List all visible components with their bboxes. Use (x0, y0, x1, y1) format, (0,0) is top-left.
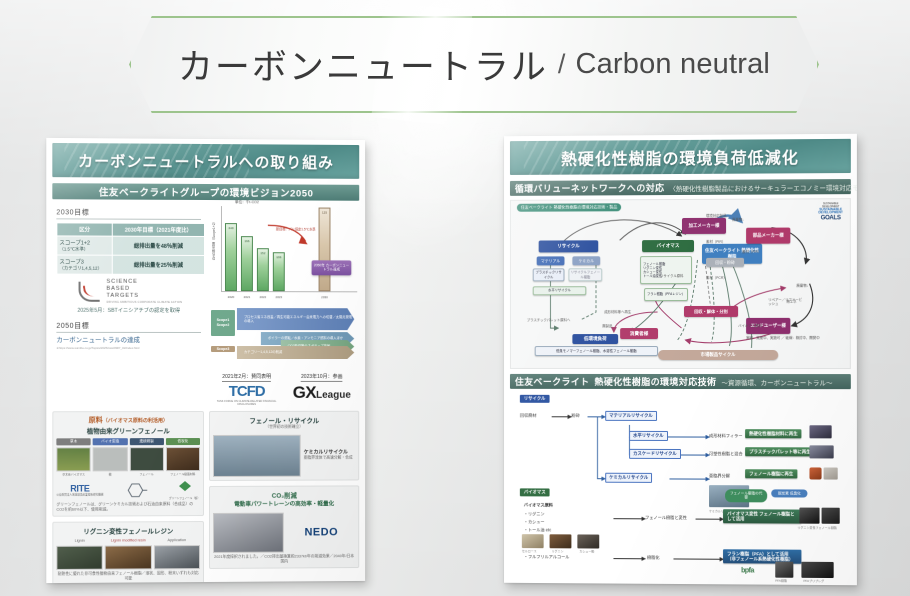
result-phenol-regen: フェノール樹脂に再生 (745, 469, 797, 478)
text-furfuryl-alcohol: ・フルフリルアルコール (524, 554, 570, 560)
node-collect-sort: 回収・解体・分別 (684, 306, 738, 317)
technology-flow: リサイクル 回収廃材 粉砕 マテリアルリサイクル 水平リサイクル カスケードリサ… (510, 393, 851, 584)
text-thermoplastic-mix: 可塑性樹脂と混合 (709, 451, 743, 457)
edge-label-pir-2: 素材（PIR） (742, 250, 761, 254)
reference-url: ※https://www.sumibe.co.jp/Topics/2025/nw… (56, 346, 201, 350)
box-horizontal-recycle: 水平リサイクル (629, 431, 667, 441)
card-phenol-title: フェノール・リサイクル (213, 416, 355, 425)
green-phenol-caption: グリーンフェノール（仮） (169, 497, 200, 500)
nedo-logo-block: NEDO (287, 522, 355, 540)
photo-lignin (550, 534, 572, 548)
stage-lowcarbon-label: 低炭化 (166, 438, 200, 445)
powertrain-photo (213, 513, 283, 553)
table-header-row: 区分 2030年目標（2021年度比） (57, 223, 205, 237)
node-low-load: 低環境負荷 (572, 334, 618, 344)
poster-left: カーボンニュートラルへの取り組み 住友ベークライトグループの環境ビジョン2050… (46, 138, 365, 583)
td-scope3-goal: 総排出量を25％削減 (112, 255, 204, 274)
bar-value: 196 (244, 239, 249, 243)
tag-recycle: リサイクル (520, 395, 549, 403)
text-source-lignin: ・リグニン (524, 511, 545, 517)
text-collected-waste: 回収廃材 (520, 413, 537, 419)
tcfd-logo-cell: 2021年2月：賛同表明 TCFD TASK FORCE ON CLIMATE-… (212, 365, 281, 406)
text-biomass-sources-title: バイオマス原料 (524, 502, 553, 508)
td-scope12: スコープ1+2 （1.5℃水準） (57, 236, 112, 255)
box-material-recycle: マテリアルリサイクル (605, 411, 656, 421)
bar-category: 2022 (260, 295, 267, 299)
banner-title-en: Carbon neutral (575, 48, 770, 81)
banner-title-jp: カーボンニュートラル (178, 39, 548, 90)
section-value-network: 循環バリューネットワークへの対応 〈熱硬化性樹脂製品におけるサーキュラーエコノミ… (510, 179, 851, 196)
roadmap-scope12-tag: Scope1 Scope2 (211, 310, 235, 336)
tcfd-sublabel: TASK FORCE ON CLIMATE-RELATED FINANCIAL … (212, 400, 281, 406)
edge-label-biomass-source: バイオマス原料 (738, 324, 762, 328)
node-processor: 加工メーカー様 (682, 218, 726, 234)
card-co2-subtitle: 電動車パワートレーンの高効率・軽量化 (213, 499, 355, 508)
bar-2023: 136 2023 (273, 253, 285, 291)
title-banner: カーボンニュートラル / Carbon neutral (129, 16, 819, 113)
chart-bars: 240 2020 196 2021 152 2022 (225, 206, 330, 291)
edge-label-used-product: 廃製品 (602, 324, 612, 328)
card-lignin-resin: リグニン変性フェノールレジン Lignin Lignin modified re… (52, 521, 204, 583)
tcfd-logo: TCFD (212, 383, 281, 400)
card-raw-material-title-main: 原料 (89, 417, 103, 424)
td-scope12-goal: 総排出量を48％削減 (112, 236, 204, 255)
stage-bio-caption: 糖 (93, 472, 127, 476)
subitem-furan-resin: フラン樹脂（PFAレジン） (644, 288, 688, 301)
bar-2030: 125 2030 (319, 208, 331, 291)
section-value-network-subtitle: 〈熱硬化性樹脂製品におけるサーキュラーエコノミー環境対応モデル〉 (669, 181, 856, 192)
poster-right: 熱硬化性樹脂の環境負荷低減化 循環バリューネットワークへの対応 〈熱硬化性樹脂製… (504, 134, 857, 585)
rite-sublabel: 公益財団法人地球環境産業技術研究機構 (56, 493, 103, 497)
phenol-structure-icon (123, 481, 150, 499)
chemical-recycle-label-block: ケミカルリサイクル 亜臨界流体で高速分解・合成 (304, 449, 356, 461)
stage-lowcarbon-caption: フェノール樹脂材料 (166, 472, 200, 476)
card-phenol-recycle: フェノール・リサイクル （世界初の技術確立） ケミカルリサイクル 亜臨界流体で高… (209, 411, 359, 481)
stage-distill-photo (129, 447, 163, 471)
roadmap-arrow-1: プロセス省エネ改善／再生可能エネルギー由来電力への切替／太陽光発電の導入 (237, 308, 354, 330)
scope3-sub: （カテゴリ1,4,5,12） (59, 266, 109, 272)
text-molding-filler: 成形材料フィラー (709, 433, 743, 439)
edge-label-pir-1: 素材（PIR） (706, 240, 725, 244)
card-lignin-title: リグニン変性フェノールレジン (56, 526, 200, 536)
sbt-certification-note: 2025年5月：SBTイニシアチブの認定を取得 (56, 307, 201, 314)
result-thermoset-regen: 熱硬化性樹脂材料に再生 (745, 429, 802, 438)
green-phenol-stages: 草木 草木系バイオマス バイオ変換 糖 連続精製 (56, 438, 200, 477)
subitem-plastic-recycle: プラスチックリサイクル (533, 268, 565, 281)
card-lignin-note: 耐熱性に優れた非可食性植物由来フェノール樹脂／液状、固形、粉末いずれも対応可能 (56, 571, 200, 582)
subitem-recycled-phenol: リサイクルフェノール樹脂 (568, 268, 602, 281)
stage-distill-label: 連続精製 (129, 438, 163, 445)
node-recycle: リサイクル (539, 240, 599, 252)
bar-category: 2021 (244, 295, 251, 299)
photo-cellulose (522, 534, 544, 548)
scope3-tag-label: Scope3 (217, 347, 230, 351)
lignin-source-photo (56, 546, 103, 570)
stage-distillation: 連続精製 フェノール (129, 438, 163, 476)
card-raw-material-note: グリーンフェノールは、グリーンケミカル技術および石油由来原料（合成品）のCO2を… (56, 502, 200, 513)
card-phenol-title-sub: （世界初の技術確立） (213, 425, 355, 430)
lignin-col-resin-label: Lignin modified resin (105, 539, 152, 544)
edge-label-repair: リペアー／リファービッシュ (768, 298, 802, 307)
node-collect-crush: 回収・粉砕 (706, 258, 744, 267)
gx-league-logo: GXLeague (287, 383, 356, 403)
tag-biomass: バイオマス (520, 488, 550, 496)
green-leaf-mark: グリーンフェノール（仮） (169, 479, 200, 500)
card-raw-material-subtitle: 植物由来グリーンフェノール (56, 426, 200, 435)
th-category: 区分 (57, 223, 112, 236)
stage-distill-caption: フェノール (129, 472, 163, 476)
cap-lignin-resin: リグニン変性フェノール樹脂 (797, 526, 836, 530)
section2-subtitle: 〜資源循環、カーボンニュートラル〜 (721, 377, 832, 387)
lignin-app-photo (154, 545, 200, 569)
swatch-pallet (809, 445, 833, 458)
lignin-col-source: Lignin (56, 539, 103, 570)
sbt-tagline: DRIVING AMBITIOUS CORPORATE CLIMATE ACTI… (106, 301, 182, 304)
block-2050: 2050目標 カーボンニュートラルの達成 ※https://www.sumibe… (52, 321, 205, 350)
text-resinification: 樹脂化 (647, 555, 660, 561)
tcfd-caption: 2021年2月：賛同表明 (222, 373, 271, 382)
photo-lignin-resin-2 (822, 508, 840, 524)
chart-red-arrow-icon (266, 223, 312, 247)
left-bottom-cards: 原料（バイオマス原料の利活用） 植物由来グリーンフェノール 草木 草木系バイオマ… (52, 411, 359, 583)
bar-2022: 152 2022 (257, 248, 269, 291)
stage-low-carbon: 低炭化 フェノール樹脂材料 (166, 438, 200, 476)
stage-kusaki-label: 草木 (56, 438, 91, 445)
lignin-col-resin: Lignin modified resin (105, 539, 152, 570)
chart-plot-area: 240 2020 196 2021 152 2022 (221, 206, 357, 292)
rite-logo: RITE (56, 483, 103, 493)
table-row: スコープ3 （カテゴリ1,4,5,12） 総排出量を25％削減 (57, 255, 205, 274)
box-chemical-recycle: ケミカルリサイクル (605, 473, 652, 483)
chemical-recycle-sublabel: 亜臨界流体で高速分解・合成 (304, 456, 356, 461)
chart-unit-label: 単位：千t-CO2 (235, 200, 259, 205)
text-subcritical: 亜臨界分解 (709, 473, 730, 479)
node-parts-maker: 部品メーカー様 (746, 228, 790, 244)
edge-label-waste-2: 廃棄物↓ (796, 284, 808, 288)
table-row: スコープ1+2 （1.5℃水準） 総排出量を48％削減 (57, 236, 205, 256)
scope12-tag-label: Scope1 Scope2 (211, 318, 235, 329)
cap-cellulose: セルロース (522, 549, 537, 553)
label-2050-target: 2050目標 (56, 321, 201, 333)
left-column-targets: 2030目標 区分 2030年目標（2021年度比） スコープ1+2 （1.5℃… (52, 199, 205, 406)
th-goal: 2030年目標（2021年度比） (112, 223, 204, 236)
bar-2021: 196 2021 (241, 236, 253, 291)
bpfa-logo: bpfa (741, 567, 754, 574)
roadmap-arrow-2-label: ボイラーの燃転／水素・アンモニア燃料の導入ほか (268, 336, 343, 340)
node-market-cycle: 市場製品サイクル (658, 350, 778, 360)
cap-pfa-resin: PFA樹脂 (775, 579, 787, 583)
lignin-col-application: Application (154, 538, 200, 569)
bar-value: 240 (228, 226, 233, 230)
section-value-network-title: 循環バリューネットワークへの対応 (515, 181, 665, 195)
ghg-bar-chart: 単位：千t-CO2 GHG排出量（Scope1+2） 240 2020 196 (209, 200, 359, 304)
bar-category: 2020 (228, 295, 235, 299)
edge-label-eco-product: 環境対応製品 (706, 214, 726, 219)
roadmap-arrow-4-label: カテゴリー1,4,5,12の削減 (244, 350, 282, 354)
edge-label-recycle-material: リサイクル原料 (660, 274, 684, 278)
text-source-talloil: ・トール油 etc (524, 527, 551, 533)
section-vision2050-label: 住友ベークライトグループの環境ビジョン2050 (99, 184, 314, 199)
gx-league-logo-cell: 2023年10月：参画 GXLeague (287, 365, 356, 406)
sbt-line3: TARGETS (106, 293, 182, 300)
lignin-col-app-label: Application (154, 538, 200, 543)
edge-label-pcr: 素材（PCR） (706, 276, 727, 280)
bar-2020: 240 2020 (225, 223, 237, 291)
stage-bio-label: バイオ変換 (93, 438, 127, 445)
subitem-horizontal-recycle: 水平リサイクル (533, 286, 587, 295)
circular-economy-diagram: 住友ベークライト 熱硬化性樹脂の環境対応技術・製品 SUSTAINABLE DE… (510, 198, 851, 369)
node-chemical: ケミカル (572, 256, 600, 265)
roadmap-arrows: Scope1 Scope2 Scope3 プロセス省エネ改善／再生可能エネルギー… (209, 306, 359, 362)
section2-title: 熱硬化性樹脂の環境対応技術 (594, 375, 716, 388)
photo-lignin-resin-1 (799, 508, 819, 524)
swatch-phenol-powder (824, 467, 838, 479)
card-raw-material-title: 原料（バイオマス原料の利活用） (56, 415, 200, 425)
photo-scene: カーボンニュートラル / Carbon neutral カーボンニュートラルへの… (0, 0, 910, 596)
subitem-resin-variants: フェノール樹脂 リグニン変性 カシュー変性 トール油変性 (640, 256, 692, 284)
roadmap-arrow-4: カテゴリー1,4,5,12の削減 (237, 346, 354, 359)
bubble-decarbon: 脱炭素 低臭化 (771, 489, 807, 498)
stage-lowcarbon-photo (166, 447, 200, 471)
banner-text-row: カーボンニュートラル / Carbon neutral (129, 16, 819, 113)
rite-logo-block: RITE 公益財団法人地球環境産業技術研究機構 (56, 483, 103, 497)
banner-separator: / (558, 49, 566, 80)
photo-pfa-prepreg (801, 562, 833, 578)
gx-mark: GX (293, 383, 316, 402)
td-scope3: スコープ3 （カテゴリ1,4,5,12） (57, 255, 112, 274)
table-2030-targets: 区分 2030年目標（2021年度比） スコープ1+2 （1.5℃水準） 総排出… (56, 222, 205, 275)
right-poster-header-title: 熱硬化性樹脂の環境負荷低減化 (561, 144, 799, 169)
box-cascade-recycle: カスケードリサイクル (629, 449, 681, 459)
section2-brand: 住友ベークライト (515, 375, 590, 388)
card-raw-material: 原料（バイオマス原料の利活用） 植物由来グリーンフェノール 草木 草木系バイオマ… (52, 411, 204, 517)
chart-y-axis-label: GHG排出量（Scope1+2） (211, 220, 216, 260)
bar-category: 2023 (275, 295, 282, 299)
result-biomass-modified: バイオマス変性 フェノール樹脂として活用 (723, 509, 801, 524)
stage-bio-conversion: バイオ変換 糖 (93, 438, 127, 476)
lignin-resin-photo (105, 545, 152, 569)
chart-goal-badge: 2050年 カーボンニュートラル達成 (312, 260, 352, 275)
poster-left-content: カーボンニュートラルへの取り組み 住友ベークライトグループの環境ビジョン2050… (46, 138, 365, 583)
cards-column-right: フェノール・リサイクル （世界初の技術確立） ケミカルリサイクル 亜臨界流体で高… (209, 411, 359, 583)
stage-kusaki-caption: 草木系バイオマス (56, 472, 91, 476)
stage-bio-photo (93, 447, 127, 471)
node-consumer: 消費者様 (620, 328, 658, 339)
result-pallet-regen: プラスチックパレット等に再生 (745, 447, 815, 456)
gx-caption: 2023年10月：参画 (301, 373, 342, 382)
text-source-cashew: ・カシュー (524, 519, 545, 525)
sbt-mountain-icon (75, 279, 101, 303)
bar-value: 152 (260, 251, 265, 255)
bar-category: 2030 (321, 295, 328, 299)
scope12-sub: （1.5℃水準） (59, 246, 109, 252)
cap-lignin: リグニン (552, 549, 564, 553)
card-co2-reduction: CO₂削減 電動車パワートレーンの高効率・軽量化 NEDO 2021年度採択され… (209, 485, 359, 568)
text-crushing: 粉砕 (571, 413, 579, 419)
roadmap-arrow-1-label: プロセス省エネ改善／再生可能エネルギー由来電力への切替／太陽光発電の導入 (244, 315, 354, 323)
poster-right-content: 熱硬化性樹脂の環境負荷低減化 循環バリューネットワークへの対応 〈熱硬化性樹脂製… (504, 134, 857, 585)
left-column-chart: 単位：千t-CO2 GHG排出量（Scope1+2） 240 2020 196 (209, 200, 359, 406)
bubble-phenol-substitute: フェノール樹脂の代替 (725, 489, 767, 502)
right-poster-header: 熱硬化性樹脂の環境負荷低減化 (510, 139, 851, 175)
card-co2-note: 2021年度採択されました。／CO2排出量換算約2337kt/年の削減効果／20… (213, 554, 355, 565)
lignin-col-source-label: Lignin (56, 539, 103, 544)
left-poster-header: カーボンニュートラルへの取り組み (52, 143, 359, 179)
label-2030-target: 2030目標 (56, 207, 201, 220)
photo-pfa-resin (775, 562, 793, 578)
edge-label-regenerate: 成形材料等へ再生 (604, 310, 631, 314)
logo-row: 2021年2月：賛同表明 TCFD TASK FORCE ON CLIMATE-… (209, 365, 359, 406)
nedo-logo: NEDO (305, 526, 339, 538)
photo-cashew (577, 534, 599, 548)
bar-value: 136 (276, 256, 281, 260)
sbt-wordmark: SCIENCE BASED TARGETS DRIVING AMBITIOUS … (106, 279, 182, 304)
section-vision2050: 住友ベークライトグループの環境ビジョン2050 (52, 183, 359, 201)
lignin-columns: Lignin Lignin modified resin Application (56, 538, 200, 570)
sbt-logo-block: SCIENCE BASED TARGETS DRIVING AMBITIOUS … (56, 279, 201, 304)
chemical-plant-photo (213, 435, 301, 477)
block-2030: 2030目標 区分 2030年目標（2021年度比） スコープ1+2 （1.5℃… (52, 204, 205, 317)
text-2050-goal: カーボンニュートラルの達成 (56, 335, 201, 344)
text-modify-with-phenol: フェノール樹脂と変性 (645, 515, 687, 521)
diagram-status-note: 実績：実施中、実施可 ／ 破線：検討中、開発中 (746, 336, 827, 340)
bar-value: 125 (322, 211, 327, 215)
edge-label-waste-1: 廃棄物↓ (732, 218, 744, 222)
card-raw-material-title-sub: （バイオマス原料の利活用） (103, 418, 168, 424)
cards-column-left: 原料（バイオマス原料の利活用） 植物由来グリーンフェノール 草木 草木系バイオマ… (52, 411, 204, 583)
roadmap-scope3-tag: Scope3 (211, 346, 235, 352)
swatch-thermoset (809, 425, 831, 438)
subitem-low-odor-resin: 低臭モノマーフェノール樹脂、水溶性フェノール樹脂 (535, 346, 658, 356)
stage-kusaki-photo (56, 447, 91, 471)
node-biomass: バイオマス (642, 240, 694, 252)
cap-pfa-prepreg: PFAプリプレグ (803, 579, 824, 583)
stage-kusaki: 草木 草木系バイオマス (56, 438, 91, 476)
swatch-phenol-chip (809, 467, 821, 479)
node-material: マテリアル (537, 256, 565, 265)
left-poster-header-title: カーボンニュートラルへの取り組み (78, 150, 334, 173)
cap-cashew: カシュー殻 (579, 549, 594, 553)
gx-league-word: League (316, 390, 351, 401)
section-eco-technology: 住友ベークライト 熱硬化性樹脂の環境対応技術 〜資源循環、カーボンニュートラル〜 (510, 374, 851, 389)
edge-label-pallet: プラスチックパレット原料へ (527, 318, 570, 322)
